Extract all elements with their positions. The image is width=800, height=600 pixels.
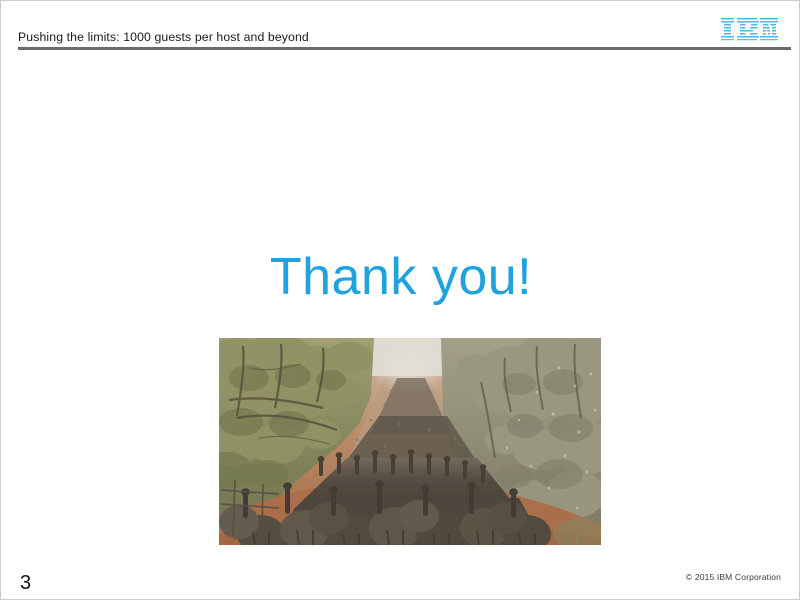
page-number: 3 — [20, 571, 31, 595]
header-divider — [18, 47, 791, 50]
slide: Pushing the limits: 1000 guests per host… — [0, 0, 800, 600]
emu-herd-photo — [219, 338, 601, 545]
thank-you-headline: Thank you! — [1, 248, 800, 306]
ibm-logo — [720, 17, 779, 41]
copyright-notice: © 2015 IBM Corporation — [686, 572, 781, 583]
page-title: Pushing the limits: 1000 guests per host… — [18, 30, 309, 45]
